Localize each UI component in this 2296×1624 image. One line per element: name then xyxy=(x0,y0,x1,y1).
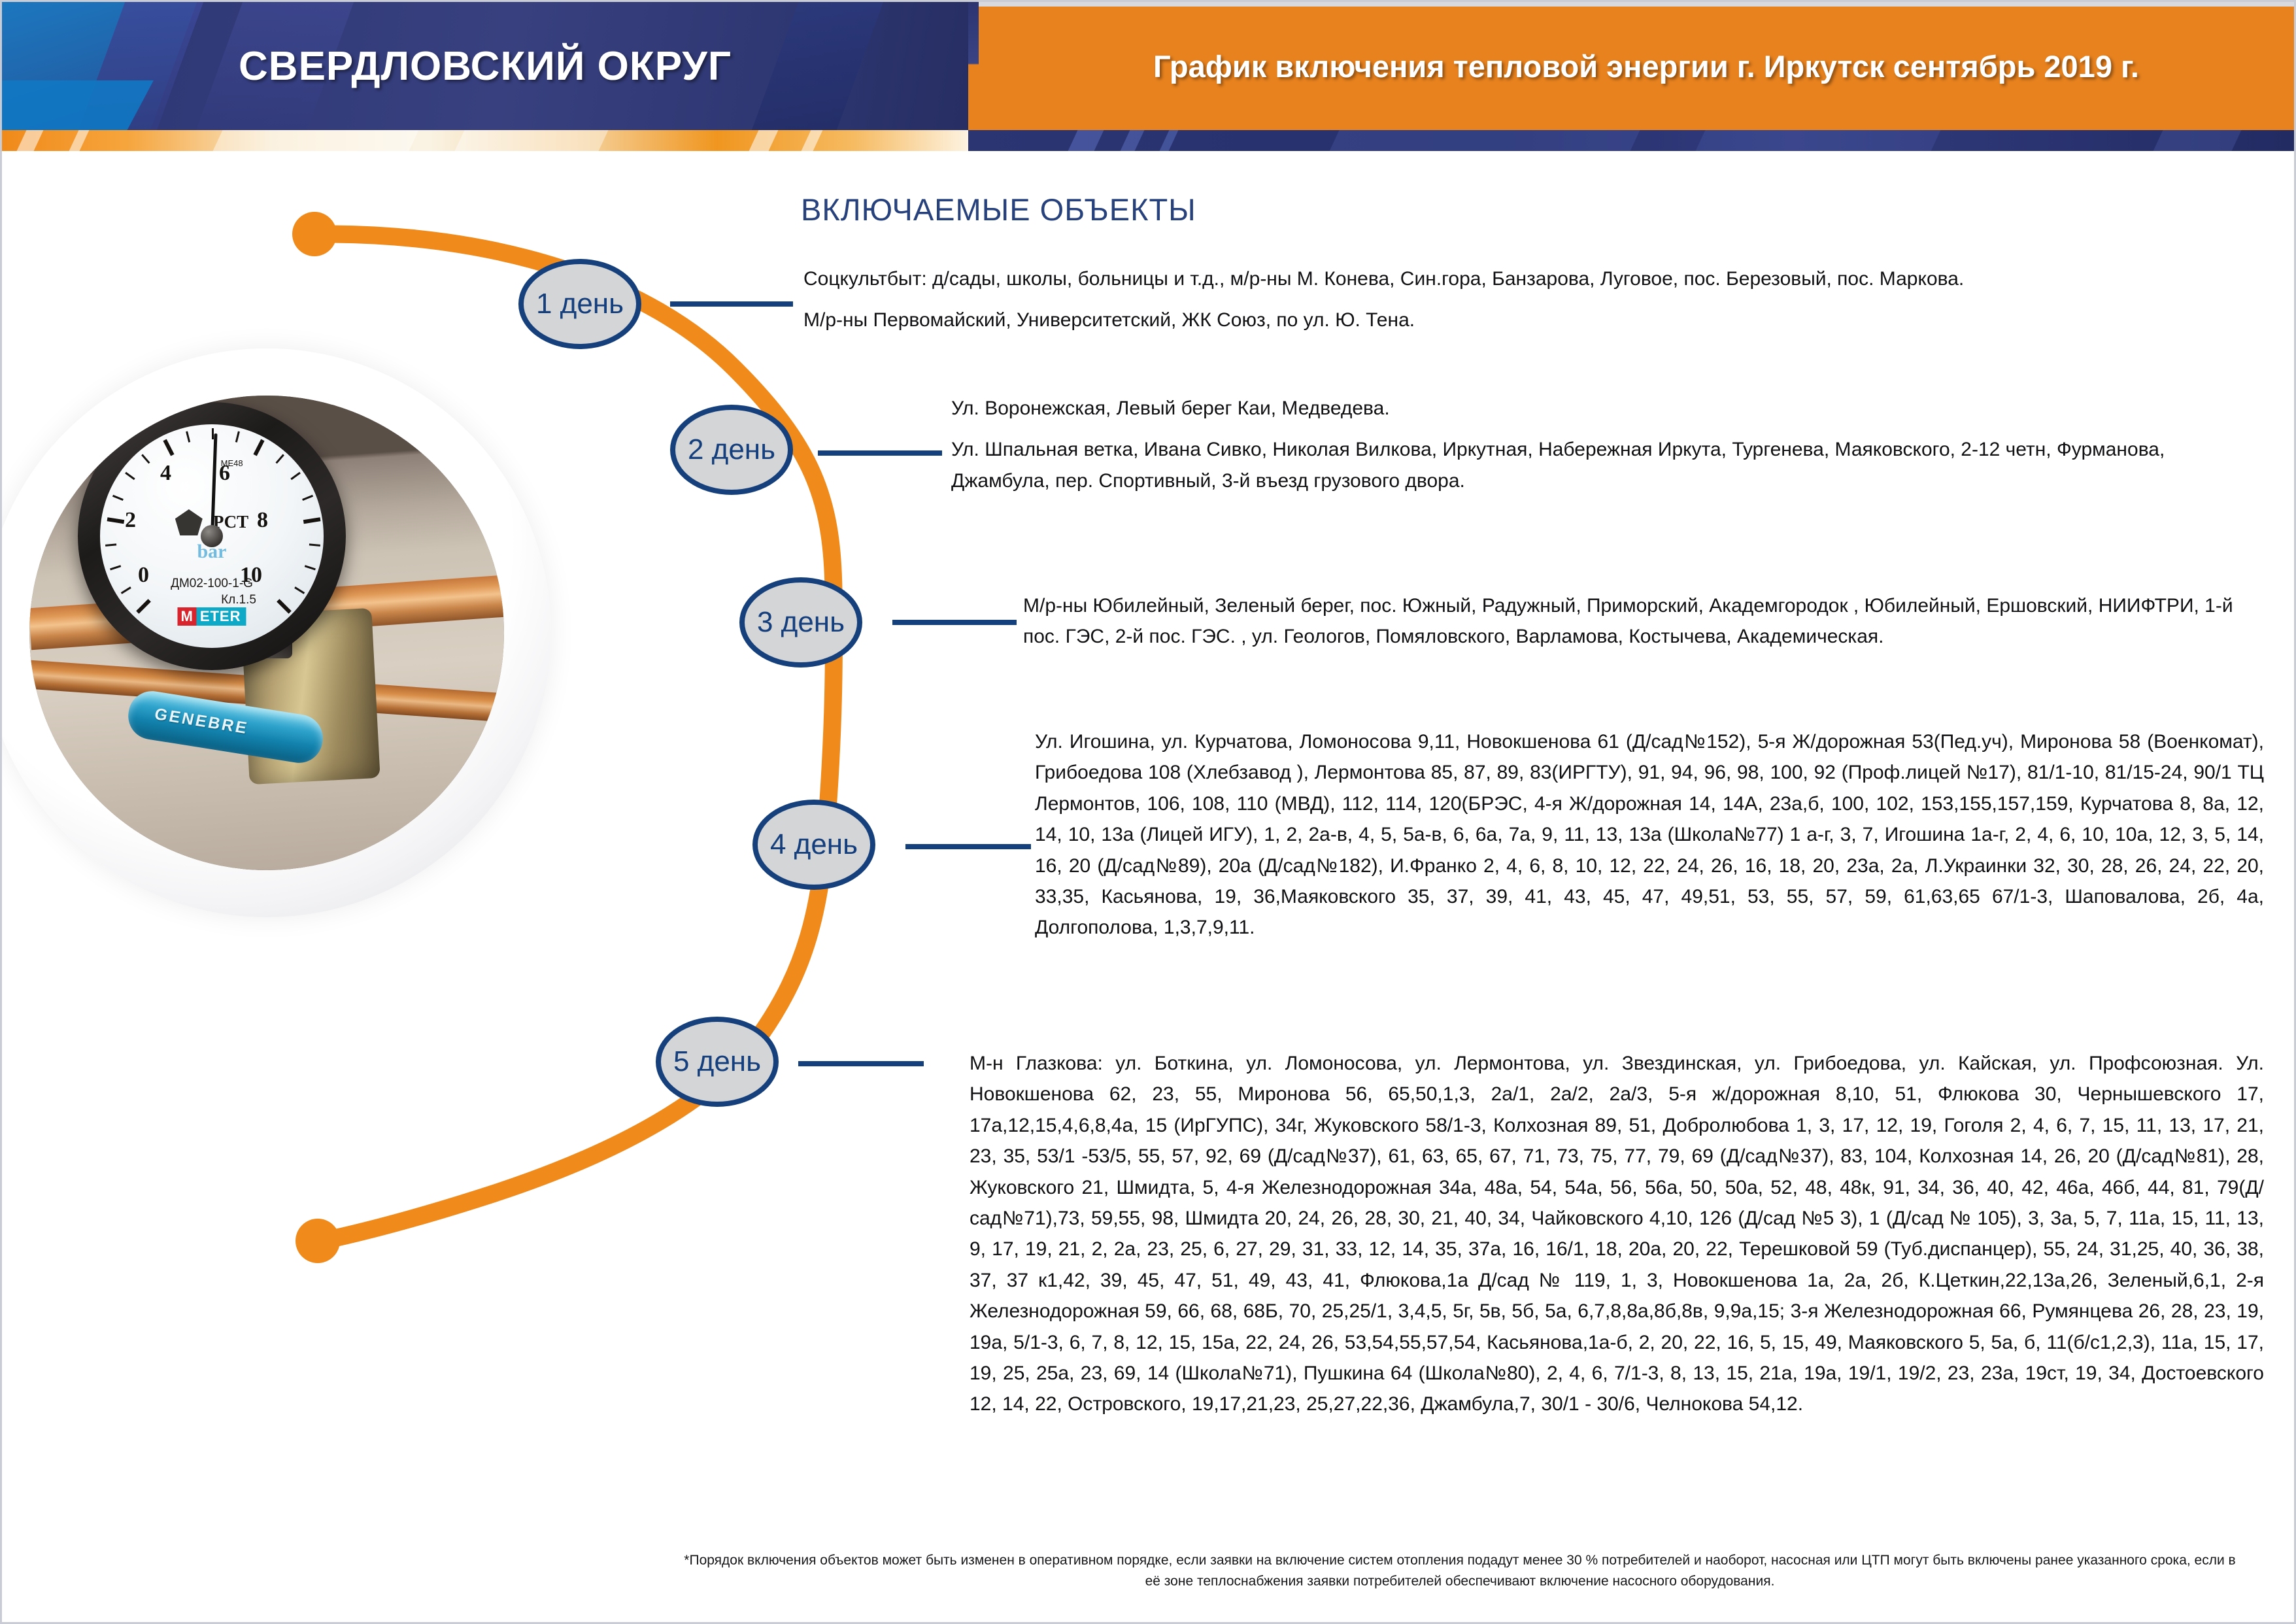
pressure-gauge-photo: GENEBRE xyxy=(0,348,551,917)
gauge-number-4: 4 xyxy=(160,461,171,486)
infographic-page: СВЕРДЛОВСКИЙ ОКРУГ График включения тепл… xyxy=(0,0,2296,1624)
day-text-3: М/р-ны Юбилейный, Зеленый берег, пос. Юж… xyxy=(1023,590,2265,652)
day-2-paragraph-2: Ул. Шпальная ветка, Ивана Сивко, Николая… xyxy=(951,434,2265,496)
day-bubble-5[interactable]: 5 день xyxy=(656,1017,779,1107)
day-3-paragraph-1: М/р-ны Юбилейный, Зеленый берег, пос. Юж… xyxy=(1023,590,2265,652)
gauge-number-2: 2 xyxy=(125,508,136,533)
day-bubble-1[interactable]: 1 день xyxy=(518,259,641,349)
header-right-stripe xyxy=(968,130,2296,151)
connector-line-4 xyxy=(905,844,1031,849)
day-label-1: 1 день xyxy=(536,288,624,320)
brand-eter-block: ETER xyxy=(197,607,246,626)
day-bubble-3[interactable]: 3 день xyxy=(739,577,862,668)
day-bubble-2[interactable]: 2 день xyxy=(670,405,793,495)
brand-m-block: M xyxy=(177,607,196,626)
gauge-accuracy-class: Кл.1.5 xyxy=(221,593,256,607)
district-title: СВЕРДЛОВСКИЙ ОКРУГ xyxy=(2,2,968,130)
valve-brand-label: GENEBRE xyxy=(152,705,250,738)
day-text-2: Ул. Воронежская, Левый берег Каи, Медвед… xyxy=(951,393,2265,496)
gauge-model-label: ДМ02-100-1-G xyxy=(171,577,253,591)
connector-line-5 xyxy=(798,1061,924,1066)
day-5-paragraph-1: М-н Глазкова: ул. Боткина, ул. Ломоносов… xyxy=(970,1048,2264,1420)
gauge-number-0: 0 xyxy=(138,563,149,588)
gauge-cert-code: МЕ48 xyxy=(221,458,243,468)
photo-clip: GENEBRE xyxy=(29,396,504,870)
page-header: СВЕРДЛОВСКИЙ ОКРУГ График включения тепл… xyxy=(2,2,2296,144)
connector-line-3 xyxy=(892,620,1017,625)
connector-line-1 xyxy=(670,301,793,307)
day-4-paragraph-1: Ул. Игошина, ул. Курчатова, Ломоносова 9… xyxy=(1035,726,2264,943)
curve-start-dot xyxy=(292,212,337,256)
gauge-hub xyxy=(201,525,223,547)
connector-line-2 xyxy=(818,450,942,456)
footnote-text: *Порядок включения объектов может быть и… xyxy=(675,1550,2244,1591)
day-text-1: Соцкультбыт: д/сады, школы, больницы и т… xyxy=(803,263,2248,336)
day-label-4: 4 день xyxy=(770,828,858,861)
gauge-number-8: 8 xyxy=(257,508,268,533)
day-label-3: 3 день xyxy=(757,606,845,639)
day-text-4: Ул. Игошина, ул. Курчатова, Ломоносова 9… xyxy=(1035,726,2264,943)
gauge-brand-logo: METER xyxy=(177,607,246,626)
day-bubble-4[interactable]: 4 день xyxy=(752,800,875,890)
day-1-paragraph-2: М/р-ны Первомайский, Университетский, ЖК… xyxy=(803,305,2248,335)
schedule-title: График включения тепловой энергии г. Ирк… xyxy=(968,2,2296,130)
gost-pentagon-icon xyxy=(175,509,203,535)
curve-end-dot xyxy=(295,1219,340,1263)
section-heading: ВКЛЮЧАЕМЫЕ ОБЪЕКТЫ xyxy=(801,192,1196,228)
day-text-5: М-н Глазкова: ул. Боткина, ул. Ломоносов… xyxy=(970,1048,2264,1420)
day-2-paragraph-1: Ул. Воронежская, Левый берег Каи, Медвед… xyxy=(951,393,2265,424)
gauge-dial: 0 2 4 6 8 10 РСТ МЕ48 bar ДМ02-100-1-G xyxy=(78,402,346,670)
day-label-2: 2 день xyxy=(688,433,775,466)
gauge-face: 0 2 4 6 8 10 РСТ МЕ48 bar ДМ02-100-1-G xyxy=(100,424,324,648)
day-label-5: 5 день xyxy=(673,1045,761,1078)
day-1-paragraph-1: Соцкультбыт: д/сады, школы, больницы и т… xyxy=(803,263,2248,294)
header-left-stripe xyxy=(2,130,968,151)
